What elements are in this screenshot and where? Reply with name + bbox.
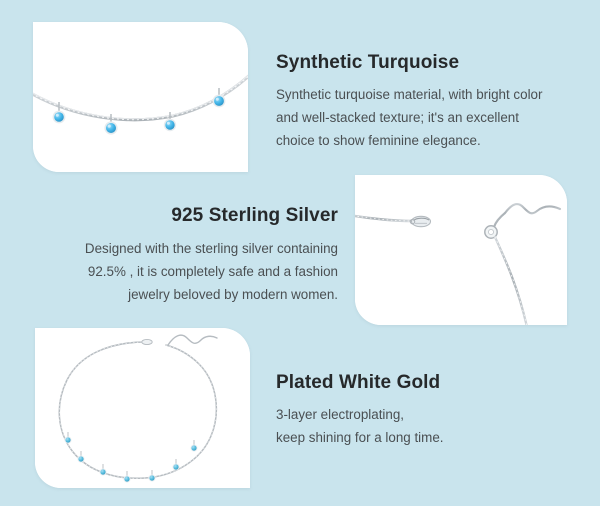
necklace-closeup-turquoise-charms-illustration: [33, 22, 248, 172]
image-card-plated-white-gold: [35, 328, 250, 488]
body-line: Designed with the sterling silver contai…: [85, 241, 338, 256]
feature-heading-synthetic-turquoise: Synthetic Turquoise: [276, 52, 588, 74]
feature-heading-plated-white-gold: Plated White Gold: [276, 372, 588, 394]
lobster-clasp: [410, 216, 430, 226]
necklace-clasp-detail-illustration: [355, 175, 567, 325]
feature-body-sterling-silver: Designed with the sterling silver contai…: [46, 237, 338, 306]
body-line: Synthetic turquoise material, with brigh…: [276, 87, 542, 102]
feature-text-synthetic-turquoise: Synthetic Turquoise Synthetic turquoise …: [276, 52, 588, 152]
image-card-synthetic-turquoise: [33, 22, 248, 172]
lobster-clasp: [142, 339, 152, 344]
feature-text-plated-white-gold: Plated White Gold 3-layer electroplating…: [276, 372, 588, 449]
body-line: 3-layer electroplating,: [276, 407, 404, 422]
image-card-sterling-silver: [355, 175, 567, 325]
necklace-full-view-illustration: [35, 328, 250, 488]
feature-heading-sterling-silver: 925 Sterling Silver: [46, 205, 338, 227]
body-line: jewelry beloved by modern women.: [128, 287, 338, 302]
body-line: choice to show feminine elegance.: [276, 133, 481, 148]
body-line: and well-stacked texture; it's an excell…: [276, 110, 519, 125]
body-line: 92.5% , it is completely safe and a fash…: [88, 264, 338, 279]
product-feature-page: Synthetic Turquoise Synthetic turquoise …: [0, 0, 600, 506]
feature-text-sterling-silver: 925 Sterling Silver Designed with the st…: [46, 205, 338, 306]
feature-body-plated-white-gold: 3-layer electroplating, keep shining for…: [276, 403, 588, 449]
body-line: keep shining for a long time.: [276, 430, 443, 445]
feature-body-synthetic-turquoise: Synthetic turquoise material, with brigh…: [276, 83, 588, 152]
